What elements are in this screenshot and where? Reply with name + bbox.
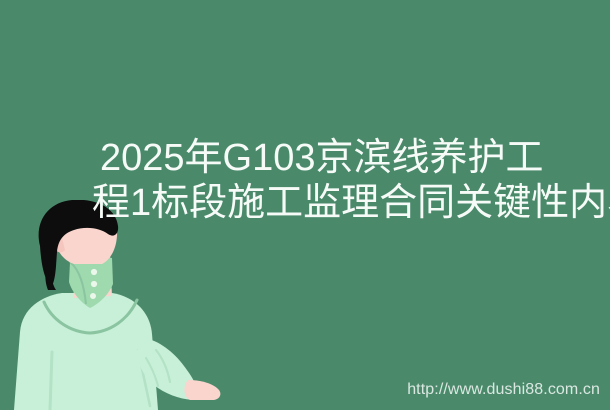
title-line-2: 程1标段施工监理合同关键性内容: [92, 181, 600, 226]
person-illustration: [0, 200, 230, 410]
collar-button-3: [90, 293, 96, 299]
page-title: 2025年G103京滨线养护工 程1标段施工监理合同关键性内容: [100, 136, 600, 226]
sweater-fold-line: [50, 352, 52, 410]
title-line-1: 2025年G103京滨线养护工: [100, 136, 600, 181]
hand: [184, 380, 220, 400]
article-cover-image: 2025年G103京滨线养护工 程1标段施工监理合同关键性内容: [0, 0, 610, 410]
watermark-url: http://www.dushi88.com.cn: [407, 381, 600, 399]
collar-button-1: [91, 269, 97, 275]
person-body-group: [14, 200, 220, 410]
collar-button-2: [91, 281, 97, 287]
